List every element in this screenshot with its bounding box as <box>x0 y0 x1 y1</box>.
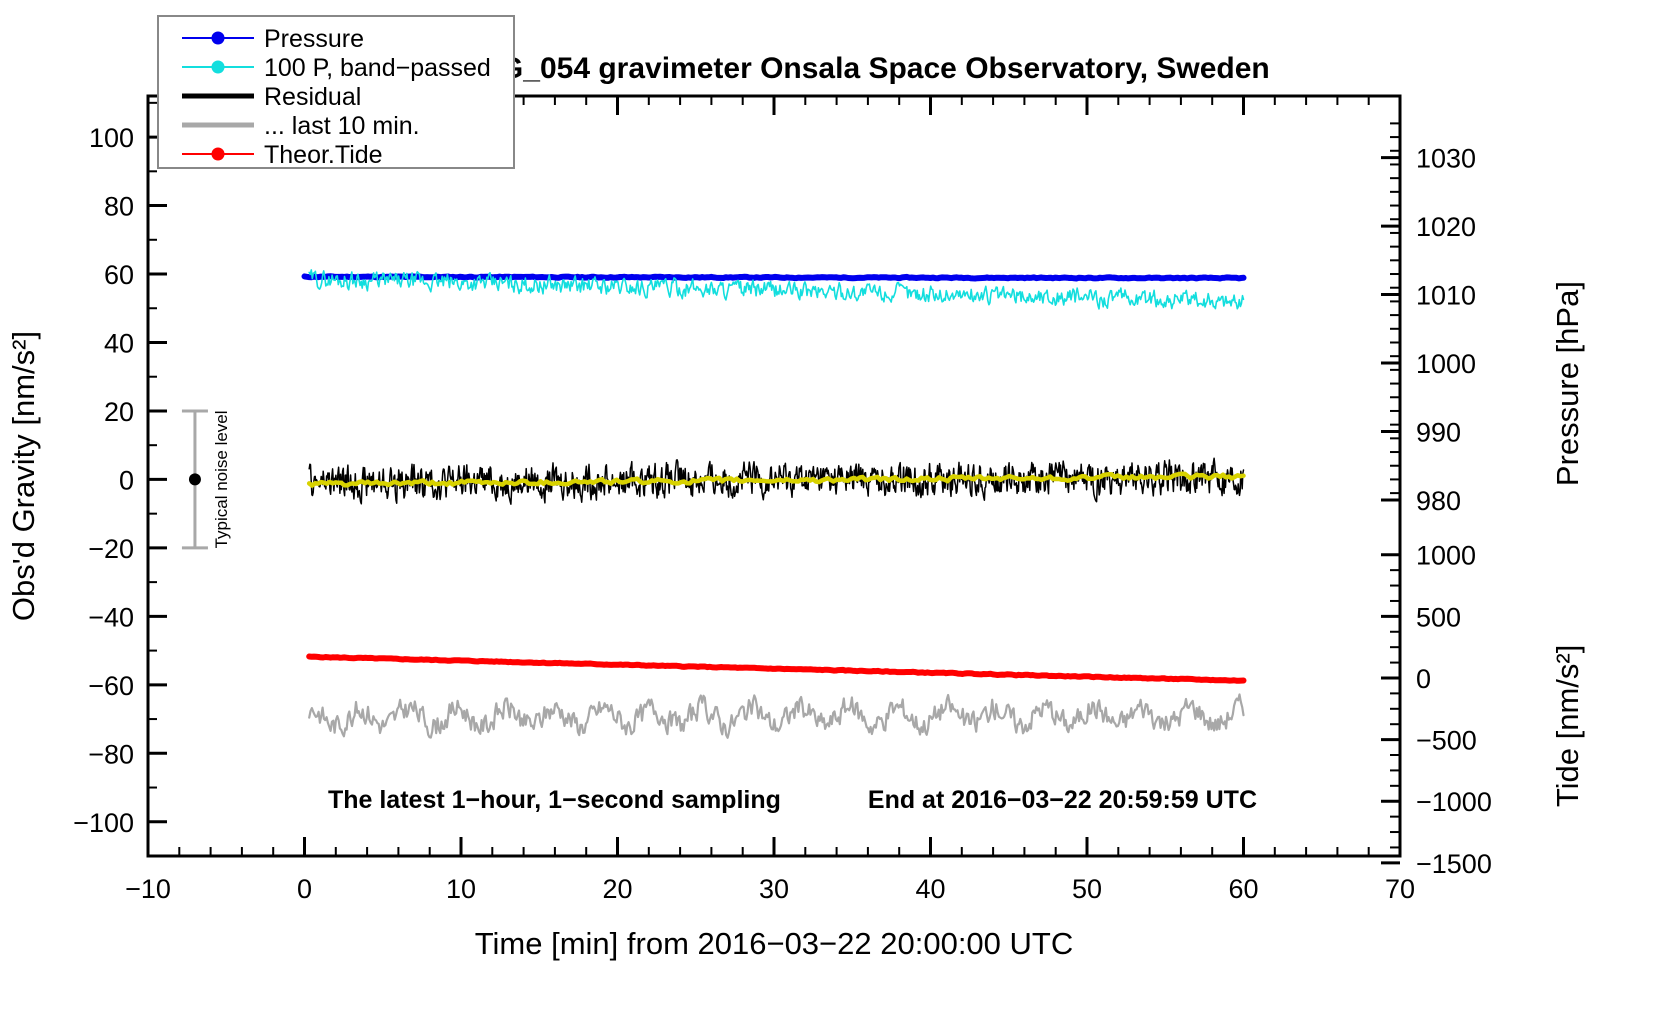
x-tick-label: −10 <box>125 874 171 904</box>
y-tick-label: 80 <box>104 192 134 222</box>
y-tick-label: 100 <box>89 123 134 153</box>
y-tick-label: −80 <box>88 739 134 769</box>
chart-title: SCG_054 gravimeter Onsala Space Observat… <box>458 52 1270 85</box>
legend-label-2: Residual <box>264 83 361 111</box>
series-last-10-min <box>309 695 1243 738</box>
x-tick-label: 0 <box>297 874 312 904</box>
y-tick-label: −40 <box>88 602 134 632</box>
tide-tick-label: 500 <box>1416 602 1461 632</box>
x-tick-label: 20 <box>602 874 632 904</box>
y-tick-label: 40 <box>104 328 134 358</box>
legend-marker-1 <box>212 61 225 74</box>
pressure-tick-label: 990 <box>1416 417 1461 447</box>
legend-marker-0 <box>212 32 225 45</box>
legend-marker-4 <box>212 148 225 161</box>
noise-level-label: Typical noise level <box>212 410 231 548</box>
legend-label-4: Theor.Tide <box>264 141 383 169</box>
y-tick-label: −60 <box>88 671 134 701</box>
end-time-note: End at 2016−03−22 20:59:59 UTC <box>868 786 1257 814</box>
tide-tick-label: −1500 <box>1416 849 1492 879</box>
chart-stage: −10010203040506070Time [min] from 2016−0… <box>0 0 1660 1020</box>
noise-level-dot <box>189 473 201 485</box>
pressure-axis-title: Pressure [hPa] <box>1550 281 1585 486</box>
pressure-tick-label: 1030 <box>1416 144 1476 174</box>
y-tick-label: −20 <box>88 534 134 564</box>
pressure-tick-label: 1000 <box>1416 349 1476 379</box>
x-tick-label: 10 <box>446 874 476 904</box>
tide-tick-label: 1000 <box>1416 541 1476 571</box>
y-tick-label: 60 <box>104 260 134 290</box>
tide-tick-label: −500 <box>1416 726 1477 756</box>
tide-tick-label: −1000 <box>1416 787 1492 817</box>
pressure-tick-label: 1020 <box>1416 212 1476 242</box>
x-tick-label: 50 <box>1072 874 1102 904</box>
x-tick-label: 60 <box>1228 874 1258 904</box>
y-tick-label: −100 <box>73 808 134 838</box>
y-tick-label: 20 <box>104 397 134 427</box>
tide-tick-label: 0 <box>1416 664 1431 694</box>
pressure-tick-label: 1010 <box>1416 281 1476 311</box>
x-tick-label: 30 <box>759 874 789 904</box>
pressure-tick-label: 980 <box>1416 486 1461 516</box>
legend-label-1: 100 P, band−passed <box>264 54 491 82</box>
gravimeter-chart: −10010203040506070Time [min] from 2016−0… <box>0 0 1660 1020</box>
x-tick-label: 40 <box>915 874 945 904</box>
legend-label-0: Pressure <box>264 25 364 53</box>
x-axis-title: Time [min] from 2016−03−22 20:00:00 UTC <box>475 926 1074 961</box>
tide-axis-title: Tide [nm/s²] <box>1550 645 1585 808</box>
legend-label-3: ... last 10 min. <box>264 112 420 140</box>
sampling-note: The latest 1−hour, 1−second sampling <box>328 786 781 814</box>
series-theor-tide <box>309 657 1243 681</box>
x-tick-label: 70 <box>1385 874 1415 904</box>
y-axis-title: Obs'd Gravity [nm/s²] <box>6 331 41 621</box>
y-tick-label: 0 <box>119 465 134 495</box>
